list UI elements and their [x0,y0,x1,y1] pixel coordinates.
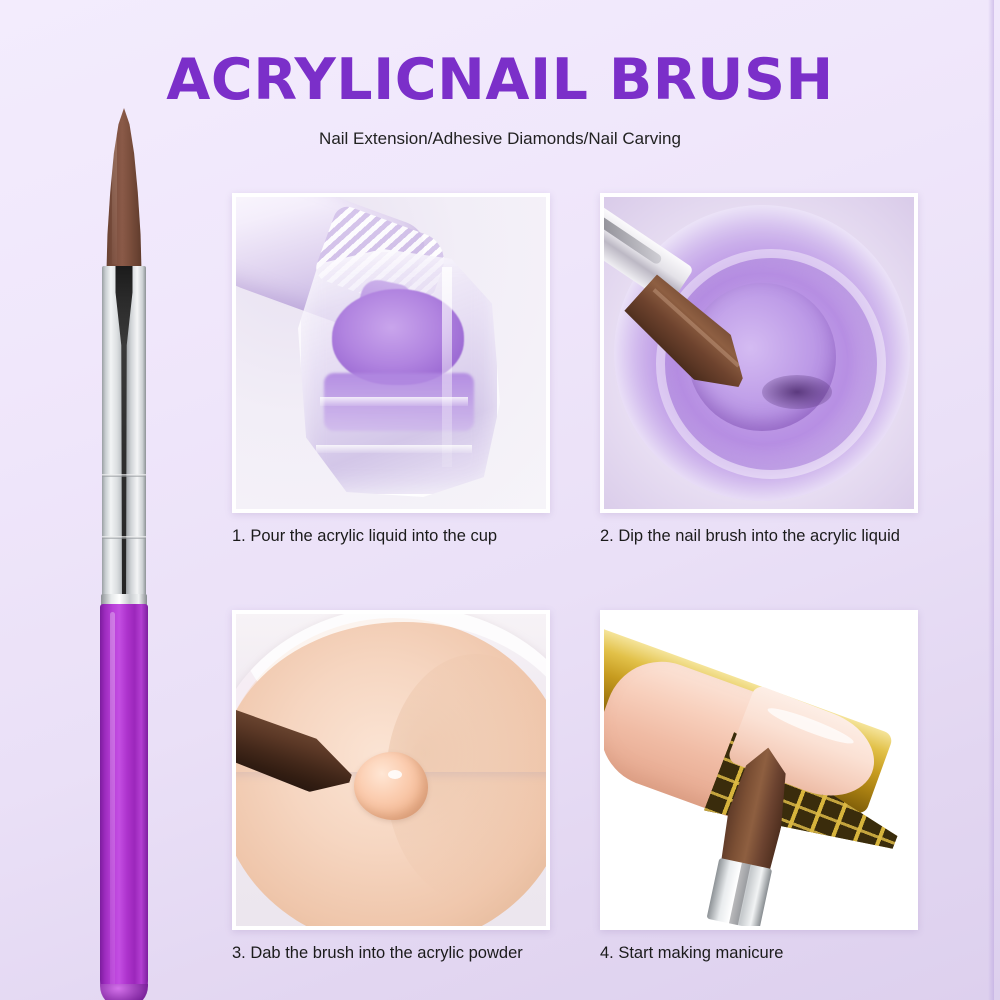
product-brush-image [92,108,156,938]
ferrule-crimp-ring-top [102,474,146,477]
step-card-4: 4. Start making manicure [600,610,918,963]
step-card-1: 1. Pour the acrylic liquid into the cup [232,193,550,546]
step-card-3: 3. Dab the brush into the acrylic powder [232,610,550,963]
ferrule-crimp-ring-bottom [102,536,146,539]
ferrule-groove [116,266,133,596]
step-card-2: 2. Dip the nail brush into the acrylic l… [600,193,918,546]
photo-4-canvas [604,614,914,926]
glass-facet-3 [442,267,452,467]
steps-grid: 1. Pour the acrylic liquid into the cup … [232,193,938,953]
brush-bristle-tip [101,108,147,270]
applying-brush-ferrule [707,858,773,926]
liquid-dark-shadow [762,375,832,409]
product-infographic-page: ACRYLICNAIL BRUSH Nail Extension/Adhesiv… [0,0,1000,1000]
step-caption-2: 2. Dip the nail brush into the acrylic l… [600,513,918,546]
right-edge-seam [988,0,994,1000]
dab-brush-into-powder-photo [232,610,550,930]
brush-ferrule [102,266,146,596]
start-making-manicure-photo [600,610,918,930]
photo-3-canvas [236,614,546,926]
pour-liquid-into-cup-photo [232,193,550,513]
step-caption-3: 3. Dab the brush into the acrylic powder [232,930,550,963]
page-title: ACRYLICNAIL BRUSH [0,0,1000,109]
dip-brush-into-liquid-photo [600,193,918,513]
acrylic-bead [354,752,428,820]
brush-handle [100,604,148,1000]
photo-1-canvas [236,197,546,509]
step-caption-1: 1. Pour the acrylic liquid into the cup [232,513,550,546]
step-caption-4: 4. Start making manicure [600,930,918,963]
photo-2-canvas [604,197,914,509]
brush-handle-end-cap [100,984,148,1000]
